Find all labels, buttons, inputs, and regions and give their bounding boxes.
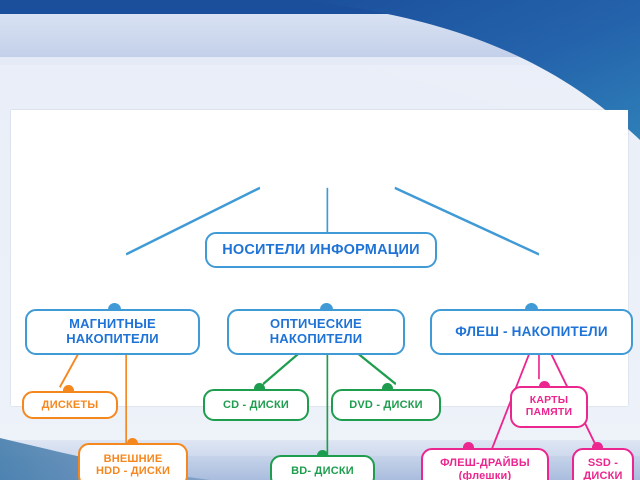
node-magnetic-storage[interactable]: МАГНИТНЫЕ НАКОПИТЕЛИ	[25, 309, 200, 355]
node-external-hdd[interactable]: ВНЕШНИЕ HDD - ДИСКИ	[78, 443, 188, 480]
node-bd-disks[interactable]: BD- ДИСКИ	[270, 455, 375, 480]
hierarchy-diagram: НОСИТЕЛИ ИНФОРМАЦИИ МАГНИТНЫЕ НАКОПИТЕЛИ…	[11, 110, 628, 406]
node-optical-storage[interactable]: ОПТИЧЕСКИЕ НАКОПИТЕЛИ	[227, 309, 405, 355]
node-root-information-carriers[interactable]: НОСИТЕЛИ ИНФОРМАЦИИ	[205, 232, 437, 268]
node-ssd-disks[interactable]: SSD - ДИСКИ	[572, 448, 634, 480]
node-cd-disks[interactable]: CD - ДИСКИ	[203, 389, 309, 421]
node-flash-drives[interactable]: ФЛЕШ-ДРАЙВЫ (флешки)	[421, 448, 549, 480]
node-flash-storage[interactable]: ФЛЕШ - НАКОПИТЕЛИ	[430, 309, 633, 355]
slide-canvas: НОСИТЕЛИ ИНФОРМАЦИИ МАГНИТНЫЕ НАКОПИТЕЛИ…	[0, 0, 640, 480]
node-memory-cards[interactable]: КАРТЫ ПАМЯТИ	[510, 386, 588, 428]
node-dvd-disks[interactable]: DVD - ДИСКИ	[331, 389, 441, 421]
content-card: НОСИТЕЛИ ИНФОРМАЦИИ МАГНИТНЫЕ НАКОПИТЕЛИ…	[11, 110, 628, 406]
node-floppy-disks[interactable]: ДИСКЕТЫ	[22, 391, 118, 419]
